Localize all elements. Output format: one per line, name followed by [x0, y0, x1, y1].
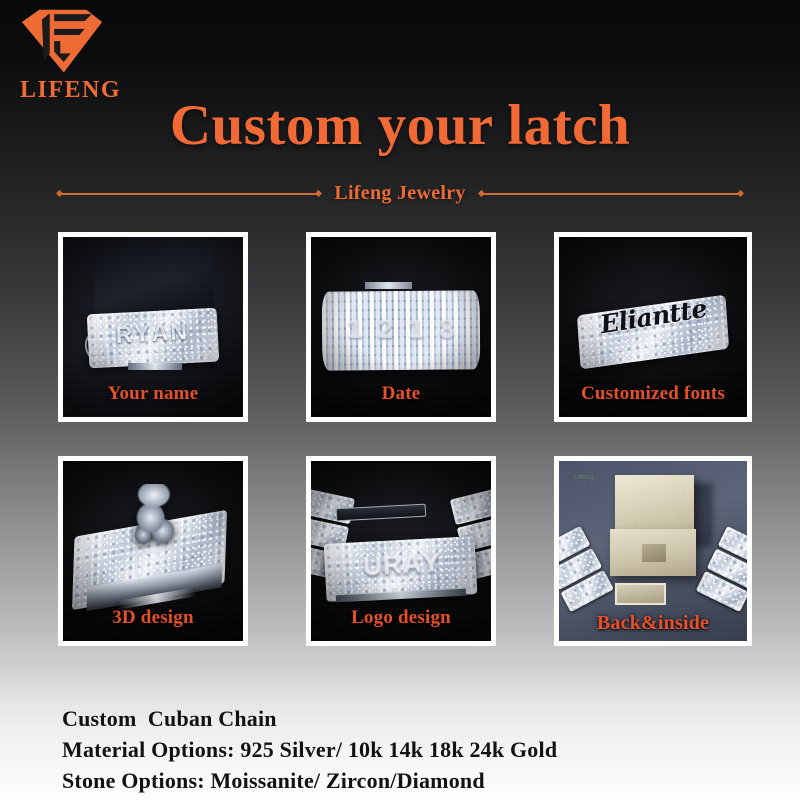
clasp-letter: Y — [421, 549, 440, 576]
card-caption: Customized fonts — [559, 383, 747, 405]
product-photo-back-inside: Lifeng Back&inside — [559, 461, 747, 641]
clasp-digit: 8 — [439, 316, 454, 343]
clasp-top-bar — [365, 282, 412, 289]
clasp-letter: N — [170, 320, 188, 344]
diamond-lf-monogram-icon — [18, 8, 106, 76]
clasp-date-digits: 1 2 1 8 — [340, 305, 462, 354]
clasp-inner-notch — [642, 544, 666, 562]
page-title: Custom your latch — [0, 96, 800, 156]
clasp-letter: R — [115, 323, 133, 347]
divider-rule-left — [58, 193, 320, 195]
clasp-letter: A — [402, 550, 422, 577]
card-caption: 3D design — [63, 607, 243, 629]
photo-prop-box — [95, 241, 214, 317]
feature-card-back-inside: Lifeng Back&inside — [554, 456, 752, 646]
clasp-3d-figure — [128, 484, 182, 549]
card-caption: Back&inside — [559, 612, 747, 635]
feature-card-3d-design: 3D design — [58, 456, 248, 646]
feature-card-your-name: R Y A N Your name — [58, 232, 248, 422]
brand-logo: LIFENG — [12, 8, 132, 102]
product-photo-3d-design: 3D design — [63, 461, 243, 641]
clasp-tongue — [615, 583, 666, 605]
clasp-digit: 2 — [378, 316, 393, 343]
clasp-letter: U — [362, 552, 382, 579]
feature-card-grid: R Y A N Your name 1 2 1 — [58, 232, 744, 646]
page-subtitle: Lifeng Jewelry — [334, 182, 465, 205]
feature-card-date: 1 2 1 8 Date — [306, 232, 496, 422]
clasp-name-letters: R Y A N — [91, 310, 212, 358]
clasp-lid-open — [615, 475, 694, 529]
card-caption: Your name — [63, 383, 243, 405]
photo-watermark: Lifeng — [574, 474, 593, 481]
product-photo-logo-design: U R A Y Logo design — [311, 461, 491, 641]
clasp-letter: R — [382, 551, 402, 578]
spec-line-stone: Stone Options: Moissanite/ Zircon/Diamon… — [62, 765, 762, 796]
clasp-digit: 1 — [409, 316, 424, 343]
clasp-letter: Y — [134, 322, 151, 346]
clasp-letter: A — [151, 321, 169, 345]
spec-line-product: Custom Cuban Chain — [62, 703, 762, 734]
card-caption: Logo design — [311, 607, 491, 629]
clasp-digit: 1 — [348, 316, 363, 343]
subtitle-row: Lifeng Jewelry — [58, 182, 742, 205]
product-specifications: Custom Cuban Chain Material Options: 925… — [62, 703, 762, 796]
spec-line-material: Material Options: 925 Silver/ 10k 14k 18… — [62, 734, 762, 765]
product-photo-date: 1 2 1 8 Date — [311, 237, 491, 417]
feature-card-logo-design: U R A Y Logo design — [306, 456, 496, 646]
divider-rule-right — [480, 193, 742, 195]
product-photo-customized-fonts: Eliantte Customized fonts — [559, 237, 747, 417]
card-caption: Date — [311, 383, 491, 405]
poster-root: LIFENG Custom your latch Lifeng Jewelry … — [0, 0, 800, 800]
clasp-tab — [128, 363, 182, 370]
product-photo-your-name: R Y A N Your name — [63, 237, 243, 417]
clasp-logo-letters: U R A Y — [332, 538, 471, 588]
feature-card-customized-fonts: Eliantte Customized fonts — [554, 232, 752, 422]
